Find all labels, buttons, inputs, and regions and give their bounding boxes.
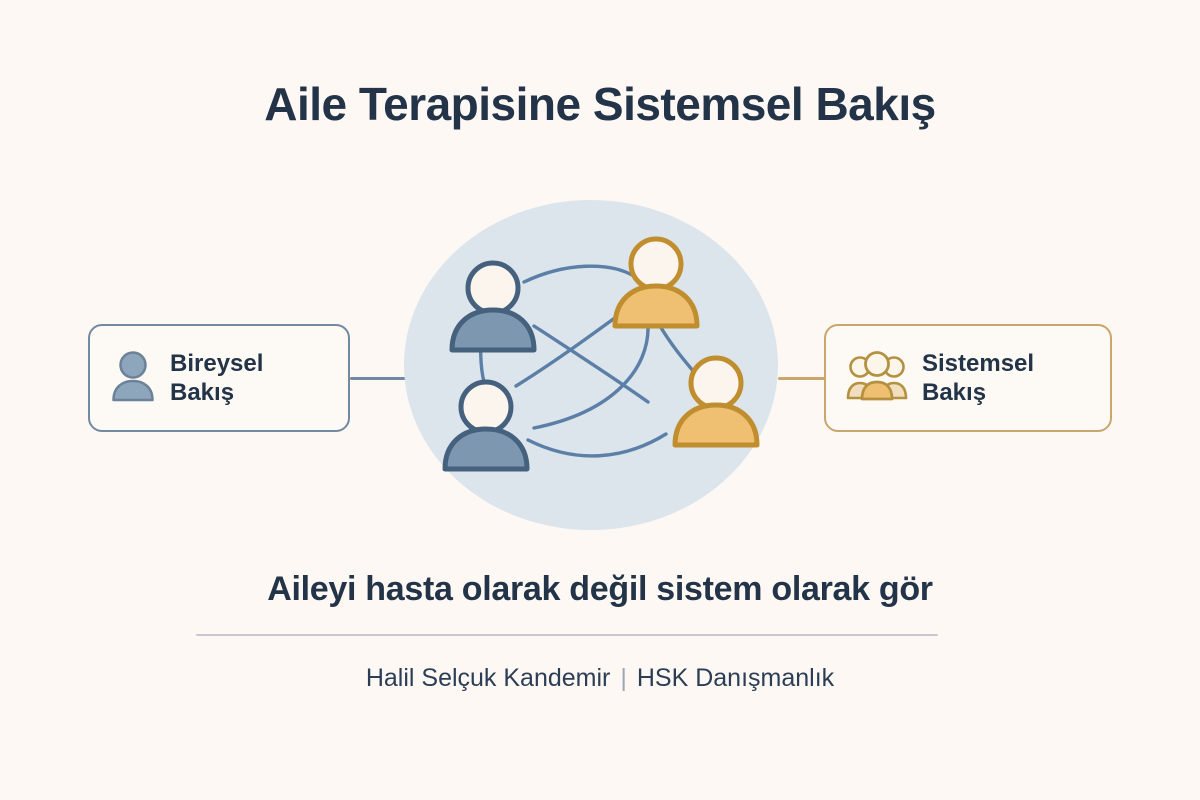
byline: Halil Selçuk Kandemir|HSK Danışmanlık: [0, 664, 1200, 693]
single-person-icon: [110, 350, 156, 407]
infographic-canvas: Aile Terapisine Sistemsel Bakış Bireysel…: [0, 0, 1200, 800]
network-node-2: [615, 239, 697, 326]
tagline: Aileyi hasta olarak değil sistem olarak …: [0, 570, 1200, 609]
network-node-3: [445, 382, 527, 469]
family-system-network: [398, 196, 790, 536]
link-node2-node4: [660, 326, 694, 372]
group-of-people-icon: [846, 350, 908, 407]
page-title: Aile Terapisine Sistemsel Bakış: [0, 78, 1200, 131]
card-right-label: Sistemsel Bakış: [922, 349, 1034, 408]
network-node-4: [675, 358, 757, 445]
link-node1-node2: [524, 266, 634, 282]
card-sistemsel-bakis[interactable]: Sistemsel Bakış: [824, 324, 1112, 432]
byline-organization: HSK Danışmanlık: [637, 664, 834, 692]
footer-divider: [196, 634, 938, 636]
network-node-1: [452, 263, 534, 350]
byline-author: Halil Selçuk Kandemir: [366, 664, 611, 692]
card-left-label: Bireysel Bakış: [170, 349, 263, 408]
byline-separator: |: [610, 664, 637, 692]
link-node2-node3-arc: [534, 324, 648, 428]
card-bireysel-bakis[interactable]: Bireysel Bakış: [88, 324, 350, 432]
link-node3-node4: [528, 434, 666, 456]
